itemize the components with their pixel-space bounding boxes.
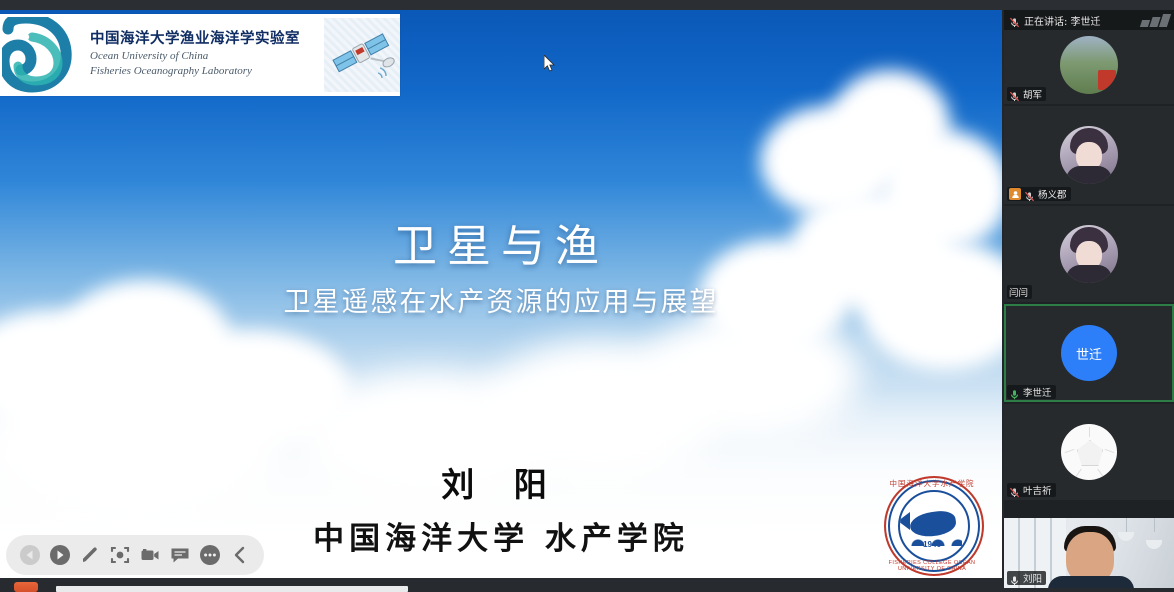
seal-year: 1946 xyxy=(880,540,984,549)
self-name: 刘阳 xyxy=(1023,571,1042,585)
avatar xyxy=(1060,126,1118,184)
participant-tile[interactable]: 世迁 李世迁 xyxy=(1004,304,1174,402)
chevron-left-icon[interactable] xyxy=(226,540,254,570)
lab-letterhead-banner: 中国海洋大学渔业海洋学实验室 Ocean University of China… xyxy=(0,14,400,96)
participant-name-chip: 叶吉祈 xyxy=(1007,483,1056,497)
participant-name: 闫闫 xyxy=(1009,285,1028,299)
participant-tile[interactable]: 杨义郡 xyxy=(1004,106,1174,204)
participant-tile[interactable]: 叶吉祈 xyxy=(1004,404,1174,500)
mic-muted-icon xyxy=(1009,89,1020,100)
spotlight-icon[interactable] xyxy=(106,540,134,570)
participant-name: 胡军 xyxy=(1023,87,1042,101)
participant-name-chip: 杨义郡 xyxy=(1007,187,1071,201)
participant-name: 李世迁 xyxy=(1023,385,1052,399)
participant-tile[interactable]: 闫闫 xyxy=(1004,206,1174,302)
next-slide-button[interactable] xyxy=(46,540,74,570)
host-badge-icon xyxy=(1009,188,1021,200)
seal-cn-text: 中国海洋大学水产学院 xyxy=(880,478,984,489)
participants-sidebar[interactable]: 正在讲话: 李世迁 胡军 xyxy=(1004,10,1174,578)
previous-slide-button[interactable] xyxy=(16,540,44,570)
participant-name-chip: 李世迁 xyxy=(1007,385,1056,399)
college-seal-logo: 中国海洋大学水产学院 1946 FISHERIES COLLEGE OCEAN … xyxy=(880,480,988,570)
participant-name-chip: 闫闫 xyxy=(1007,285,1032,299)
shared-presentation-slide[interactable]: 中国海洋大学渔业海洋学实验室 Ocean University of China… xyxy=(0,10,1002,578)
avatar xyxy=(1061,424,1117,480)
mouse-cursor xyxy=(544,55,556,73)
taskbar-window-button[interactable] xyxy=(56,586,408,592)
chat-bubble-icon[interactable] xyxy=(166,540,194,570)
annotation-toolbar[interactable] xyxy=(6,535,264,575)
mic-active-icon xyxy=(1009,387,1020,398)
video-camera-icon[interactable] xyxy=(136,540,164,570)
participant-name: 叶吉祈 xyxy=(1023,483,1052,497)
avatar: 世迁 xyxy=(1061,325,1117,381)
screen-capture-window: 中国海洋大学渔业海洋学实验室 Ocean University of China… xyxy=(0,0,1174,592)
presenter-name: 刘 阳 xyxy=(0,458,1002,506)
more-dots-icon[interactable] xyxy=(196,540,224,570)
taskbar-app-icon[interactable] xyxy=(14,582,38,592)
pen-icon[interactable] xyxy=(76,540,104,570)
mic-muted-icon xyxy=(1024,189,1035,200)
mic-muted-icon xyxy=(1009,15,1020,26)
avatar-initials: 世迁 xyxy=(1061,325,1117,381)
active-speaker-banner: 正在讲话: 李世迁 xyxy=(1004,10,1174,30)
avatar xyxy=(1060,36,1118,94)
self-name-chip: 刘阳 xyxy=(1007,571,1046,585)
participant-name-chip: 胡军 xyxy=(1007,87,1046,101)
active-speaker-label: 正在讲话: 李世迁 xyxy=(1024,13,1101,28)
satellite-image xyxy=(324,18,400,92)
self-video-tile[interactable]: 刘阳 xyxy=(1004,518,1174,588)
mic-muted-icon xyxy=(1009,573,1020,584)
slide-title: 卫星与渔 xyxy=(0,210,1002,274)
slide-subtitle: 卫星遥感在水产资源的应用与展望 xyxy=(0,280,1002,319)
avatar xyxy=(1060,225,1118,283)
desktop-top-strip xyxy=(0,0,1174,10)
whale-logo-icon xyxy=(2,17,84,93)
participant-name: 杨义郡 xyxy=(1038,187,1067,201)
volume-bars-icon xyxy=(1141,14,1169,27)
seal-en-text: FISHERIES COLLEGE OCEAN UNIVERSITY OF CH… xyxy=(880,560,984,572)
participant-tile[interactable]: 正在讲话: 李世迁 胡军 xyxy=(1004,10,1174,104)
person-body xyxy=(1048,576,1134,588)
mic-muted-icon xyxy=(1009,485,1020,496)
